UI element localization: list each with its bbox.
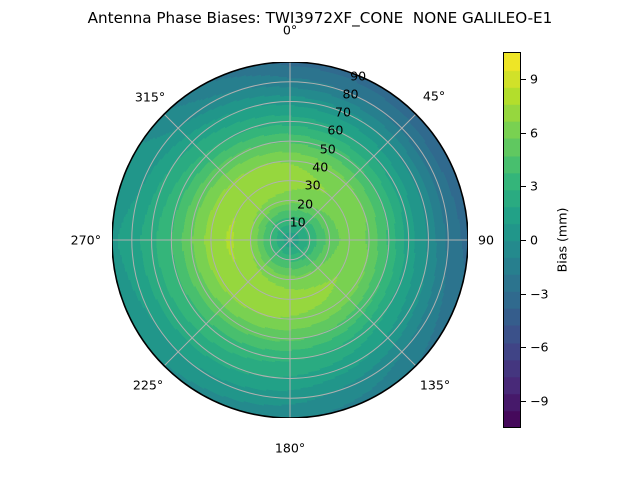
radial-tick-label-10: 10 [290, 214, 306, 229]
colorbar-gradient [503, 52, 521, 428]
colorbar[interactable]: 9630−3−6−9 [503, 52, 521, 428]
colorbar-tick-mark [521, 294, 526, 295]
radial-tick-label-80: 80 [342, 86, 358, 101]
colorbar-tick-label: 9 [530, 71, 538, 86]
angular-tick-225: 225° [133, 378, 163, 393]
angular-tick-135: 135° [420, 378, 450, 393]
colorbar-tick-mark [521, 347, 526, 348]
angular-tick-270: 270° [71, 233, 101, 248]
colorbar-tick-label: −3 [530, 286, 549, 301]
radial-tick-label-30: 30 [305, 178, 321, 193]
radial-tick-label-50: 50 [320, 141, 336, 156]
colorbar-tick-label: −6 [530, 340, 549, 355]
angular-tick-180: 180° [275, 441, 305, 456]
colorbar-tick-label: 3 [530, 179, 538, 194]
page-title: Antenna Phase Biases: TWI3972XF_CONE NON… [0, 9, 640, 27]
colorbar-tick-label: 0 [530, 233, 538, 248]
colorbar-tick-mark [521, 401, 526, 402]
polar-axes [112, 62, 468, 418]
radial-tick-label-20: 20 [297, 196, 313, 211]
colorbar-tick-label: −9 [530, 394, 549, 409]
radial-tick-label-60: 60 [327, 123, 343, 138]
angular-tick-45: 45° [423, 89, 445, 104]
radial-tick-label-70: 70 [335, 105, 351, 120]
polar-gridlines [112, 62, 468, 418]
angular-tick-315: 315° [135, 90, 165, 105]
colorbar-tick-mark [521, 133, 526, 134]
colorbar-tick-mark [521, 186, 526, 187]
colorbar-title: Bias (mm) [555, 208, 570, 273]
colorbar-tick-mark [521, 79, 526, 80]
radial-tick-label-90: 90 [350, 68, 366, 83]
angular-tick-0: 0° [283, 23, 297, 38]
angular-tick-90: 90 [478, 233, 494, 248]
polar-contour-plot[interactable] [112, 62, 468, 418]
colorbar-tick-label: 6 [530, 125, 538, 140]
colorbar-tick-mark [521, 240, 526, 241]
radial-tick-label-40: 40 [312, 159, 328, 174]
